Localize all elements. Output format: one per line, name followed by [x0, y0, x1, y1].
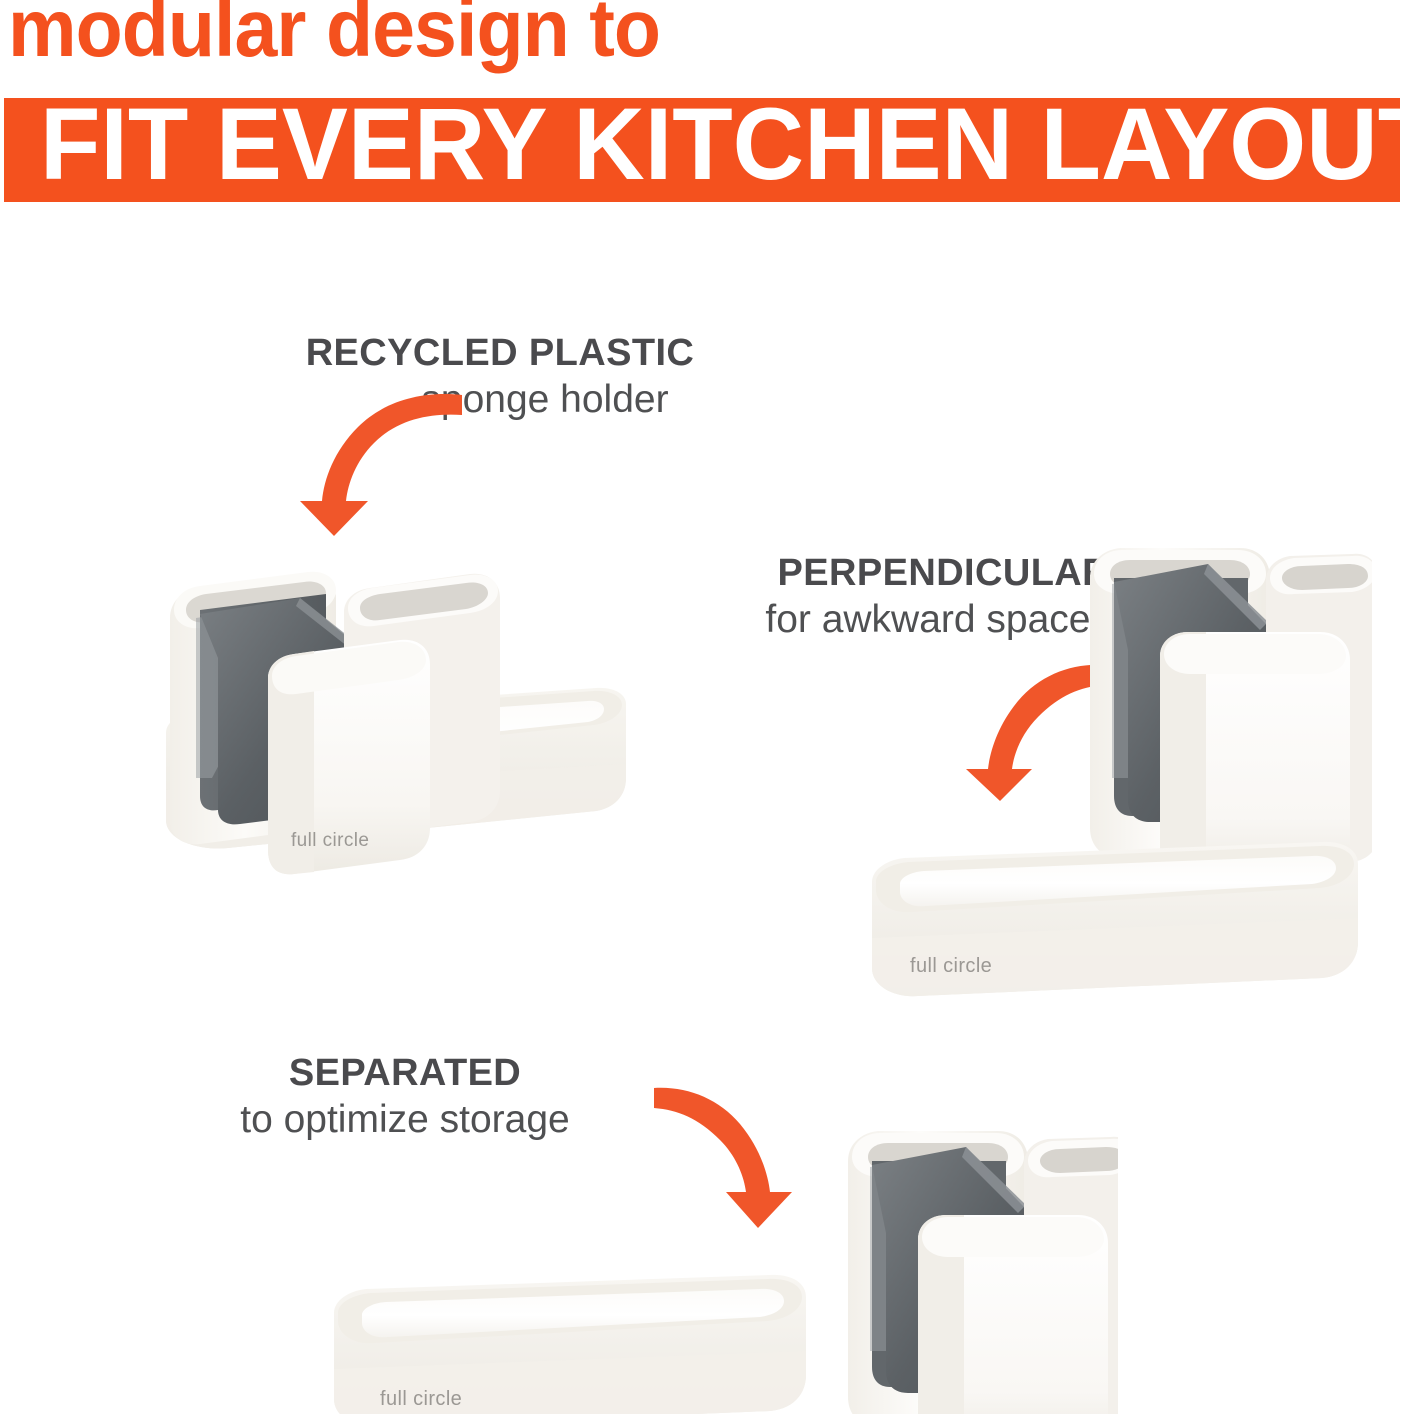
headline-banner: FIT EVERY KITCHEN LAYOUT — [4, 98, 1400, 202]
product-illustration-perpendicular: full circle — [852, 520, 1372, 1010]
brand-logo-text: full circle — [291, 830, 369, 851]
callout-title: RECYCLED PLASTIC — [210, 330, 820, 376]
banner-headline: FIT EVERY KITCHEN LAYOUT — [40, 98, 1400, 196]
brand-logo-text: full circle — [910, 955, 992, 977]
sponge-holder-part — [170, 572, 500, 875]
product-illustration-attached: full circle — [148, 528, 648, 878]
product-illustration-separated: full circle — [318, 1115, 1118, 1414]
tray-part: full circle — [334, 1275, 806, 1414]
scene-perpendicular: full circle — [852, 520, 1372, 1010]
eyebrow-headline: modular design to — [8, 0, 660, 70]
infographic-page: modular design to FIT EVERY KITCHEN LAYO… — [0, 0, 1408, 1414]
scene-separated: full circle — [318, 1115, 1118, 1414]
callout-title: SEPARATED — [150, 1050, 660, 1096]
scene-attached: full circle — [148, 528, 648, 878]
brand-logo-text: full circle — [380, 1388, 462, 1410]
sponge-holder-part — [848, 1131, 1118, 1414]
tray-part: full circle — [872, 842, 1358, 996]
sponge-holder-part — [1090, 548, 1372, 880]
curved-arrow-down-left-icon — [276, 383, 466, 538]
